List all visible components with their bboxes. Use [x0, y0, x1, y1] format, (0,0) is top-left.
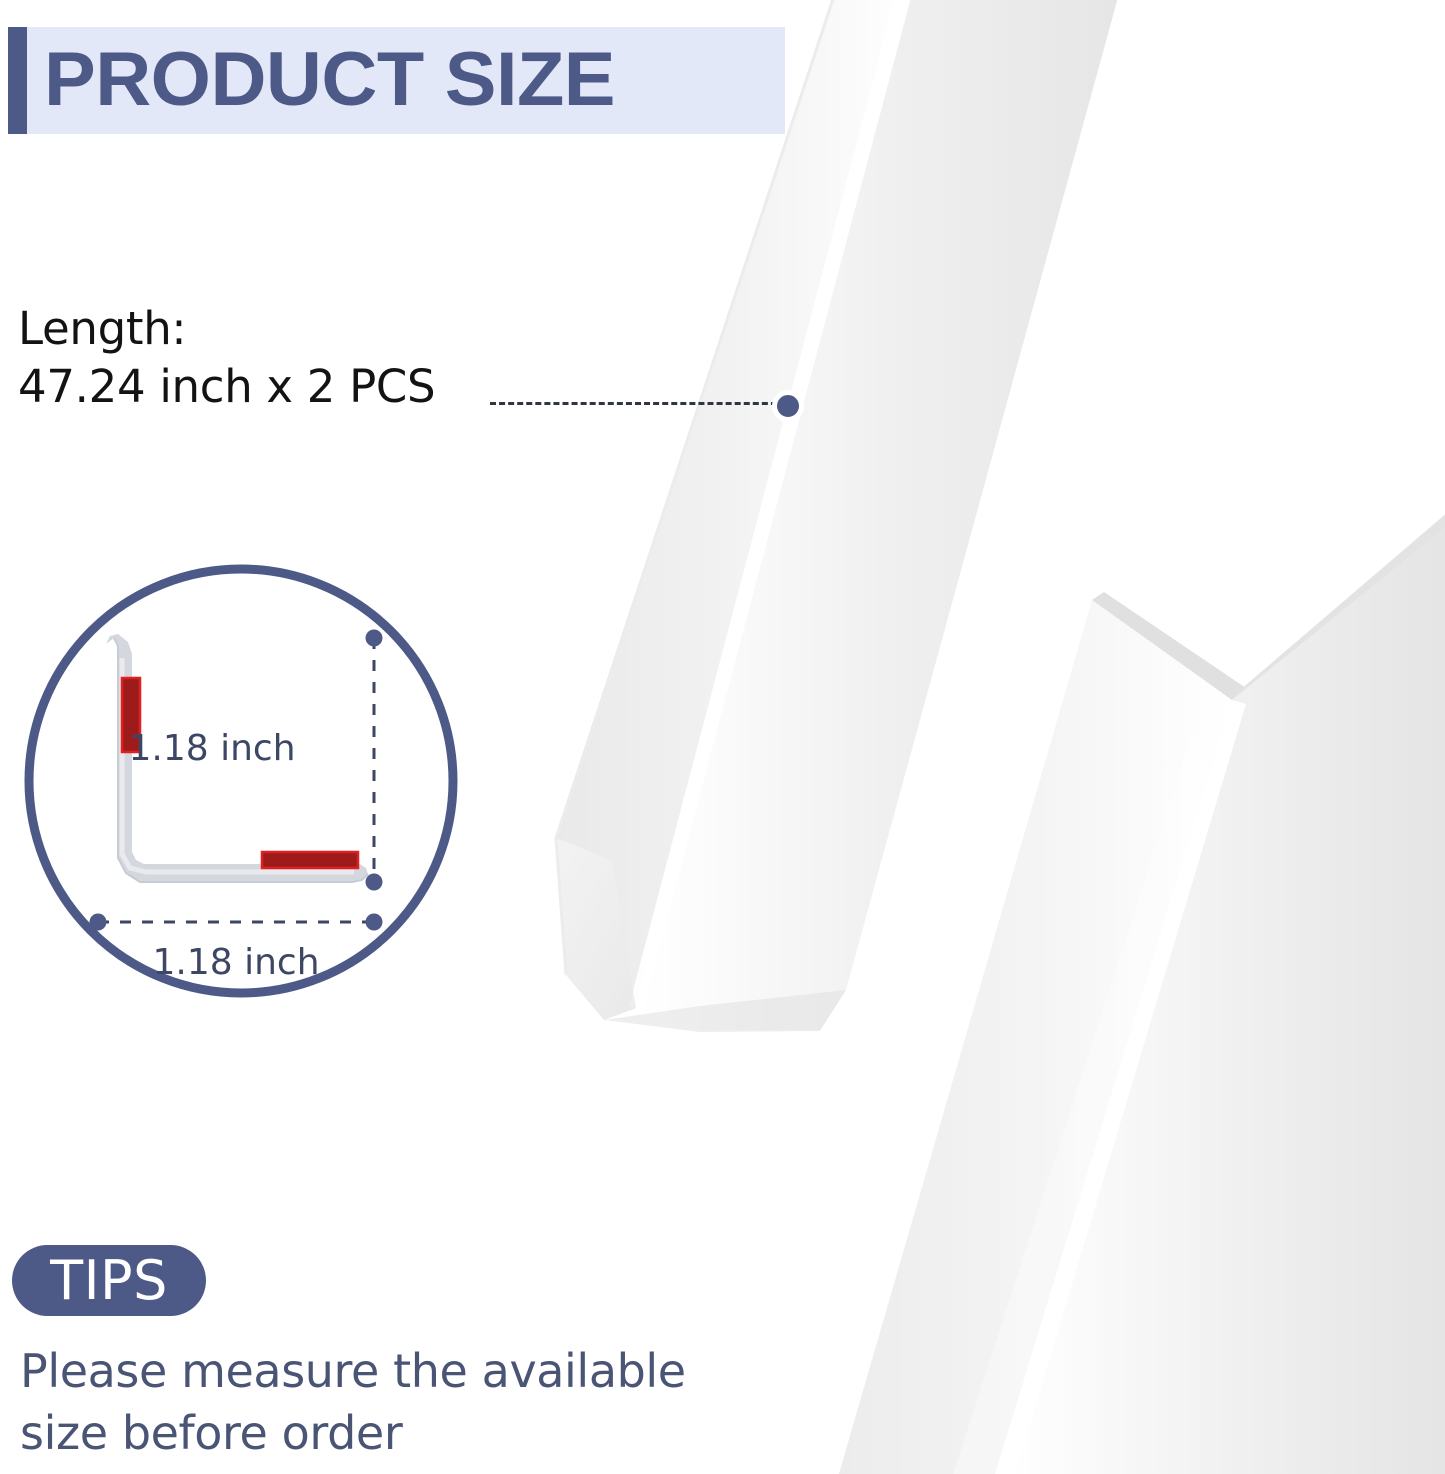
tips-badge: TIPS — [12, 1245, 206, 1316]
leader-endpoint-dot — [772, 390, 804, 422]
length-value: 47.24 inch x 2 PCS — [18, 358, 488, 416]
tips-text: Please measure the available size before… — [20, 1340, 780, 1464]
leader-dashed-line — [490, 402, 786, 405]
length-leader-line — [490, 401, 790, 405]
length-callout: Length: 47.24 inch x 2 PCS — [18, 300, 488, 416]
height-dimension-label: 1.18 inch — [128, 728, 295, 769]
adhesive-tape-horizontal — [262, 852, 358, 868]
page-title: PRODUCT SIZE — [44, 30, 799, 130]
callout-ring — [29, 569, 453, 993]
tips-text-line-2: size before order — [20, 1402, 780, 1464]
length-label: Length: — [18, 300, 488, 358]
tips-badge-label: TIPS — [12, 1245, 206, 1316]
header-accent-bar — [8, 27, 27, 134]
width-dimension-label: 1.18 inch — [152, 942, 319, 983]
cross-section-callout: 1.18 inch 1.18 inch — [22, 562, 460, 1000]
product-size-infographic: PRODUCT SIZE Length: 47.24 inch x 2 PCS — [0, 0, 1445, 1474]
tips-text-line-1: Please measure the available — [20, 1340, 780, 1402]
